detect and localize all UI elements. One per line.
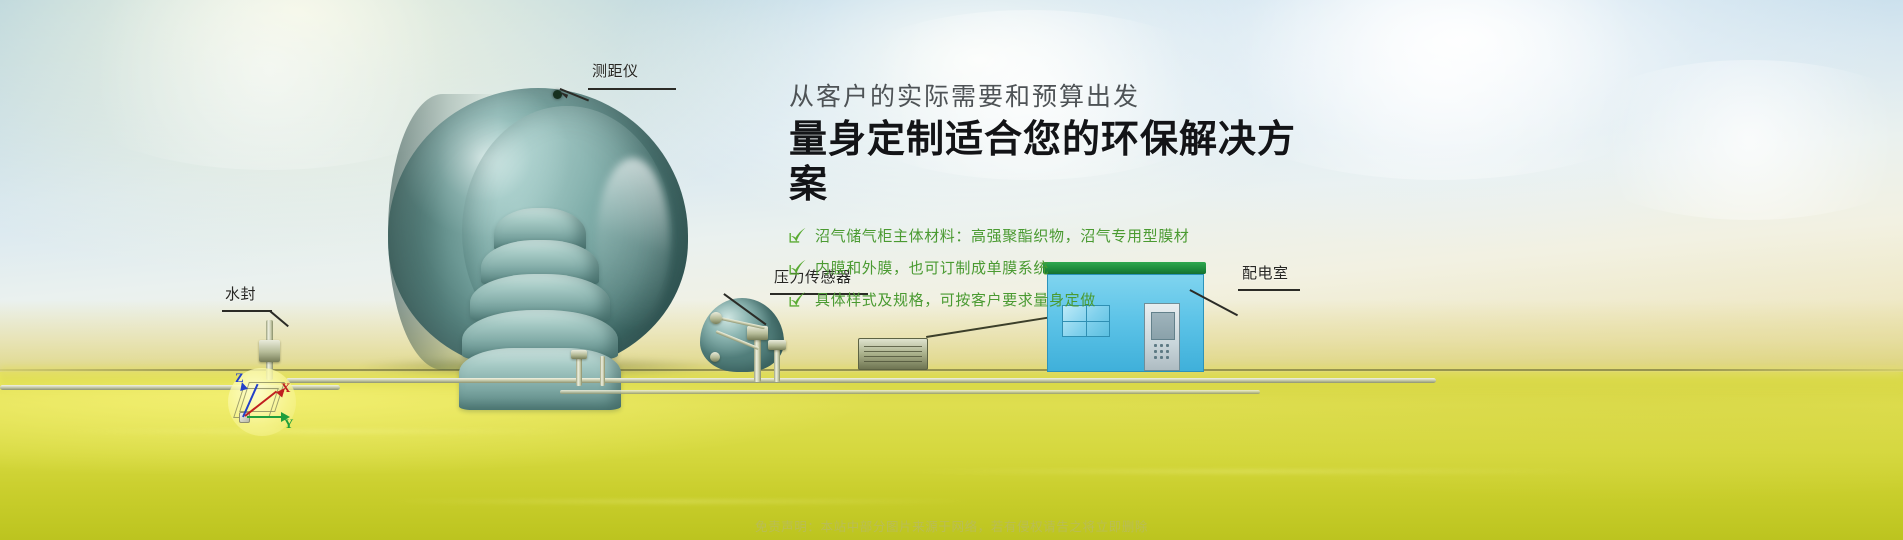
skid-louvre bbox=[864, 361, 922, 362]
ground-streak bbox=[900, 470, 1600, 473]
site-disclaimer: 免责声明：本站中部分图片来源于网络，若有侵权请告之将立即删除 bbox=[0, 516, 1903, 535]
dome-outlet-valve bbox=[710, 312, 722, 324]
hero-banner: 测距仪 水封 压力传感器 配电室 Z X Y bbox=[0, 0, 1903, 540]
axis-y-line bbox=[247, 416, 283, 418]
marketing-text-panel: 从客户的实际需要和预算出发 量身定制适合您的环保解决方案 沼气储气柜主体材料：高… bbox=[789, 82, 1329, 321]
callout-leader-line bbox=[588, 88, 676, 90]
dome-inner-membrane bbox=[460, 208, 620, 458]
dome-outlet-valve bbox=[710, 352, 720, 362]
main-ground-pipe bbox=[286, 378, 1436, 383]
check-icon bbox=[789, 259, 806, 276]
skid-louvre bbox=[864, 356, 922, 357]
feature-bullet-item: 具体样式及规格，可按客户要求量身定做 bbox=[789, 289, 1329, 310]
skid-valve bbox=[768, 340, 786, 350]
axis-x-label: X bbox=[281, 380, 290, 396]
skid-louvre bbox=[864, 351, 922, 352]
axis-z-label: Z bbox=[235, 370, 244, 386]
feature-bullet-text: 沼气储气柜主体材料：高强聚酯织物，沼气专用型膜材 bbox=[815, 225, 1189, 246]
water-seal-valve bbox=[259, 340, 280, 362]
skid-louvre bbox=[864, 346, 922, 347]
check-icon bbox=[789, 227, 806, 244]
feature-bullet-list: 沼气储气柜主体材料：高强聚酯织物，沼气专用型膜材 内膜和外膜，也可订制成单膜系统 bbox=[789, 225, 1329, 310]
panel-buttons bbox=[1154, 344, 1170, 360]
feature-bullet-item: 沼气储气柜主体材料：高强聚酯织物，沼气专用型膜材 bbox=[789, 225, 1329, 246]
feature-bullet-text: 内膜和外膜，也可订制成单膜系统 bbox=[815, 257, 1049, 278]
axis-orientation-badge: Z X Y bbox=[228, 368, 296, 436]
feature-bullet-text: 具体样式及规格，可按客户要求量身定做 bbox=[815, 289, 1096, 310]
check-icon bbox=[789, 291, 806, 308]
gas-holder-dome bbox=[388, 88, 688, 372]
grade-line bbox=[0, 369, 1903, 371]
dome-drain-valve bbox=[571, 350, 587, 359]
callout-leader-line bbox=[222, 310, 272, 312]
feature-bullet-item: 内膜和外膜，也可订制成单膜系统 bbox=[789, 257, 1329, 278]
blower-skid bbox=[858, 338, 928, 370]
panel-headline: 量身定制适合您的环保解决方案 bbox=[789, 118, 1329, 208]
panel-subtitle: 从客户的实际需要和预算出发 bbox=[789, 82, 1329, 113]
ground-streak bbox=[380, 500, 980, 503]
return-ground-pipe bbox=[560, 390, 1260, 394]
callout-label-water-seal: 水封 bbox=[225, 283, 256, 304]
axis-y-label: Y bbox=[284, 416, 293, 432]
callout-label-rangefinder: 测距仪 bbox=[592, 60, 639, 81]
dome-drain-riser bbox=[600, 356, 605, 386]
